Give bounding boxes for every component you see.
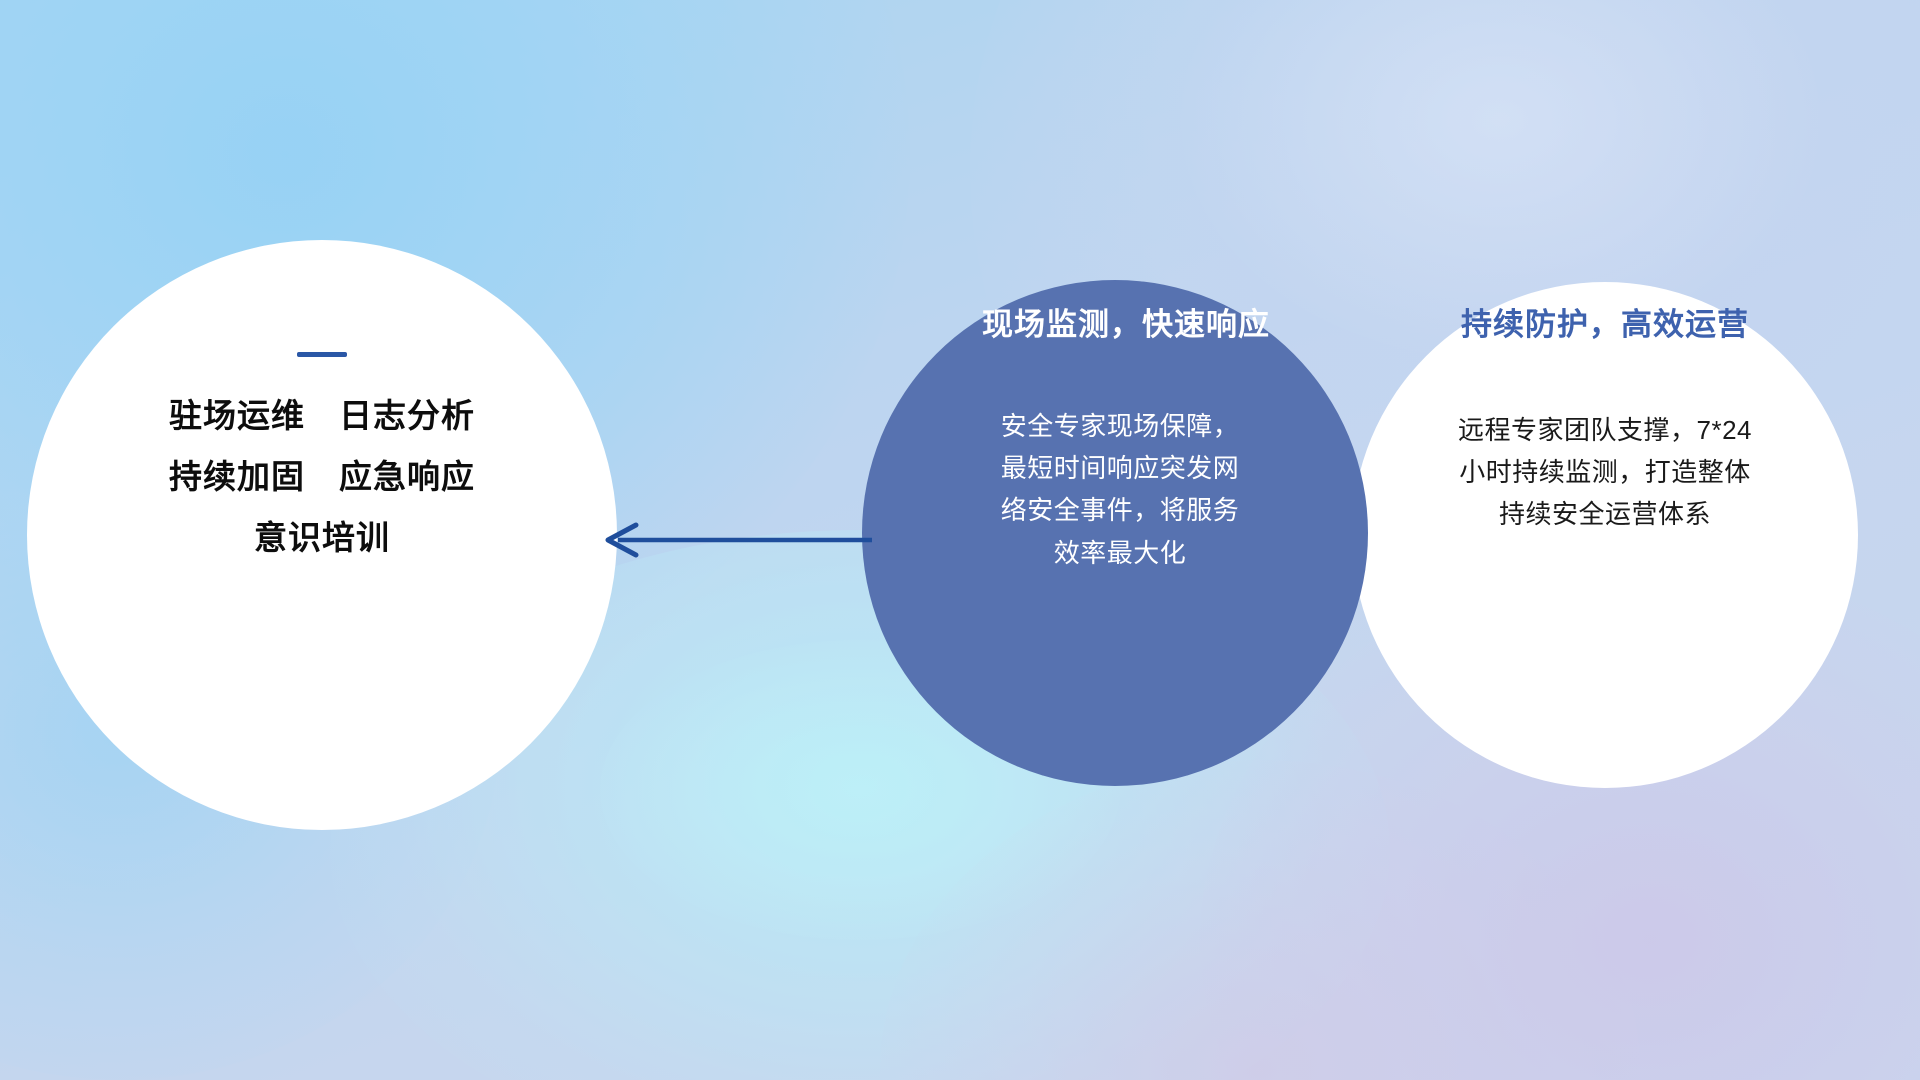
left-circle-content: 驻场运维 日志分析 持续加固 应急响应 意识培训	[27, 352, 617, 554]
right-card-title: 持续防护，高效运营	[1374, 306, 1836, 343]
slide-canvas: 持续防护，高效运营 远程专家团队支撑，7*24 小时持续监测，打造整体 持续安全…	[0, 0, 1920, 1080]
left-card-line-3: 意识培训	[27, 521, 617, 554]
left-circle-card[interactable]: 驻场运维 日志分析 持续加固 应急响应 意识培训	[27, 240, 617, 830]
right-card-body: 远程专家团队支撑，7*24 小时持续监测，打造整体 持续安全运营体系	[1374, 409, 1836, 535]
left-arrow-icon	[596, 512, 876, 568]
left-card-line-1: 驻场运维 日志分析	[27, 399, 617, 432]
right-circle-card[interactable]: 持续防护，高效运营 远程专家团队支撑，7*24 小时持续监测，打造整体 持续安全…	[1352, 282, 1858, 788]
middle-card-body: 安全专家现场保障， 最短时间响应突发网 络安全事件，将服务 效率最大化	[910, 405, 1330, 573]
right-body-line-1: 远程专家团队支撑，7*24	[1374, 409, 1836, 451]
left-card-line-2: 持续加固 应急响应	[27, 460, 617, 493]
middle-body-line-1: 安全专家现场保障，	[910, 405, 1330, 447]
dash-divider-icon	[297, 352, 347, 357]
middle-body-line-2: 最短时间响应突发网	[910, 447, 1330, 489]
middle-card-title: 现场监测，快速响应	[922, 306, 1330, 343]
right-body-line-2: 小时持续监测，打造整体	[1374, 451, 1836, 493]
middle-circle-content: 现场监测，快速响应 安全专家现场保障， 最短时间响应突发网 络安全事件，将服务 …	[862, 306, 1368, 574]
middle-circle-card[interactable]: 现场监测，快速响应 安全专家现场保障， 最短时间响应突发网 络安全事件，将服务 …	[862, 280, 1368, 786]
right-body-line-3: 持续安全运营体系	[1374, 493, 1836, 535]
middle-body-line-4: 效率最大化	[910, 532, 1330, 574]
right-circle-content: 持续防护，高效运营 远程专家团队支撑，7*24 小时持续监测，打造整体 持续安全…	[1352, 306, 1858, 536]
bg-blob-lavender-bottom	[880, 760, 1640, 1080]
middle-body-line-3: 络安全事件，将服务	[910, 489, 1330, 531]
